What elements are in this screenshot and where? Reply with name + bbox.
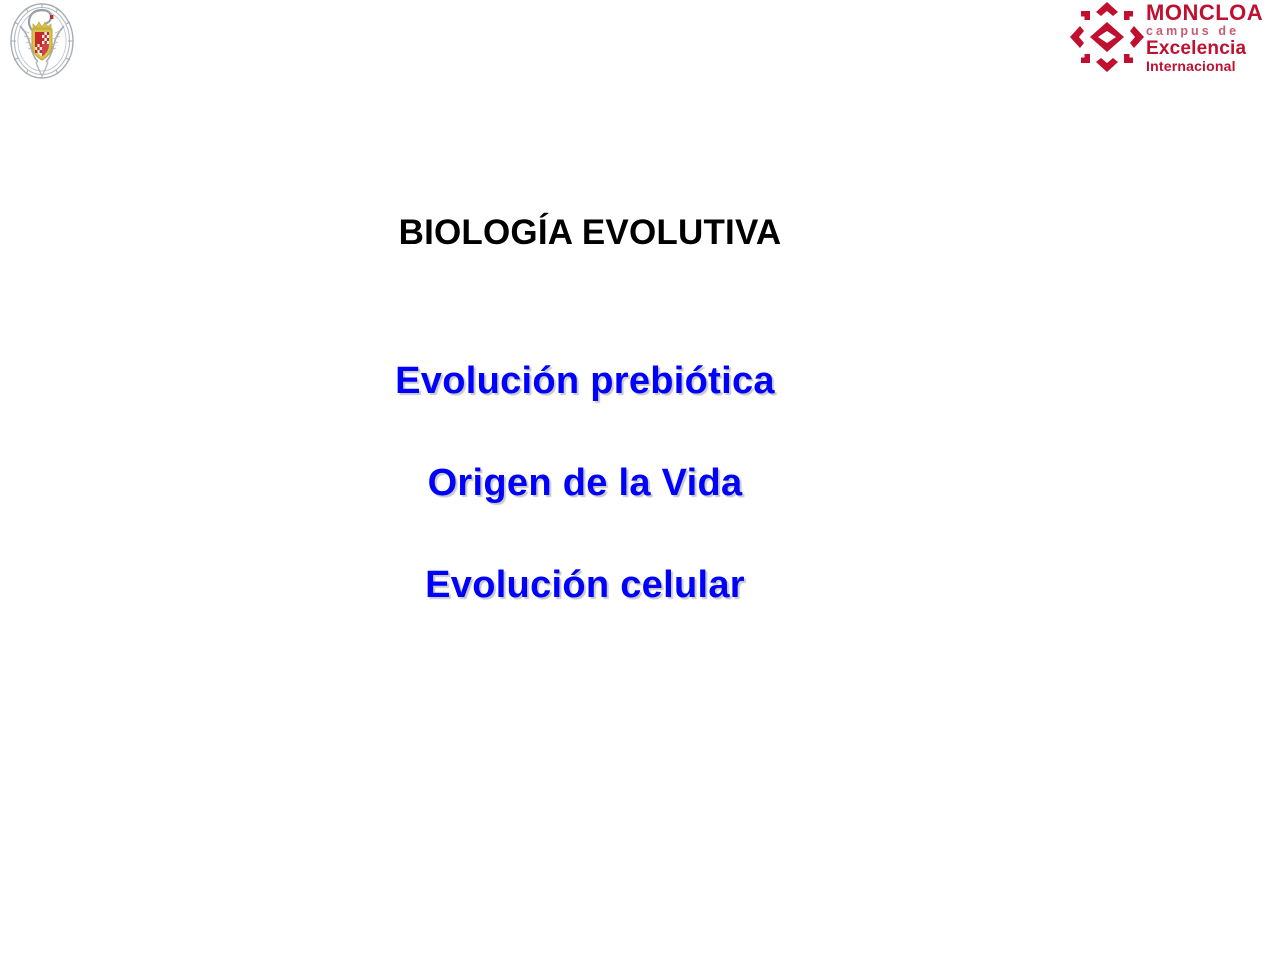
bullet-line-2: Origen de la Vida	[0, 457, 1170, 559]
moncloa-rosette-icon	[1068, 0, 1146, 74]
slide-canvas: MONCLOA campus de Excelencia Internacion…	[0, 0, 1280, 960]
moncloa-wordmark: MONCLOA campus de Excelencia Internacion…	[1146, 0, 1280, 74]
moncloa-logo: MONCLOA campus de Excelencia Internacion…	[1068, 0, 1280, 74]
page-title: BIOLOGÍA EVOLUTIVA	[0, 213, 1180, 253]
ucm-crest-icon	[6, 0, 78, 82]
ucm-crest-logo	[6, 0, 78, 82]
bullet-line-1: Evolución prebiótica	[0, 355, 1170, 457]
moncloa-line-excelencia: Excelencia	[1146, 39, 1280, 59]
bullet-line-3: Evolución celular	[0, 559, 1170, 661]
moncloa-line-moncloa: MONCLOA	[1146, 2, 1280, 24]
bullet-list: Evolución prebiótica Origen de la Vida E…	[0, 355, 1170, 661]
moncloa-line-campus: campus de	[1146, 24, 1280, 38]
moncloa-line-internacional: Internacional	[1146, 59, 1280, 74]
title-block: BIOLOGÍA EVOLUTIVA	[0, 213, 1180, 253]
